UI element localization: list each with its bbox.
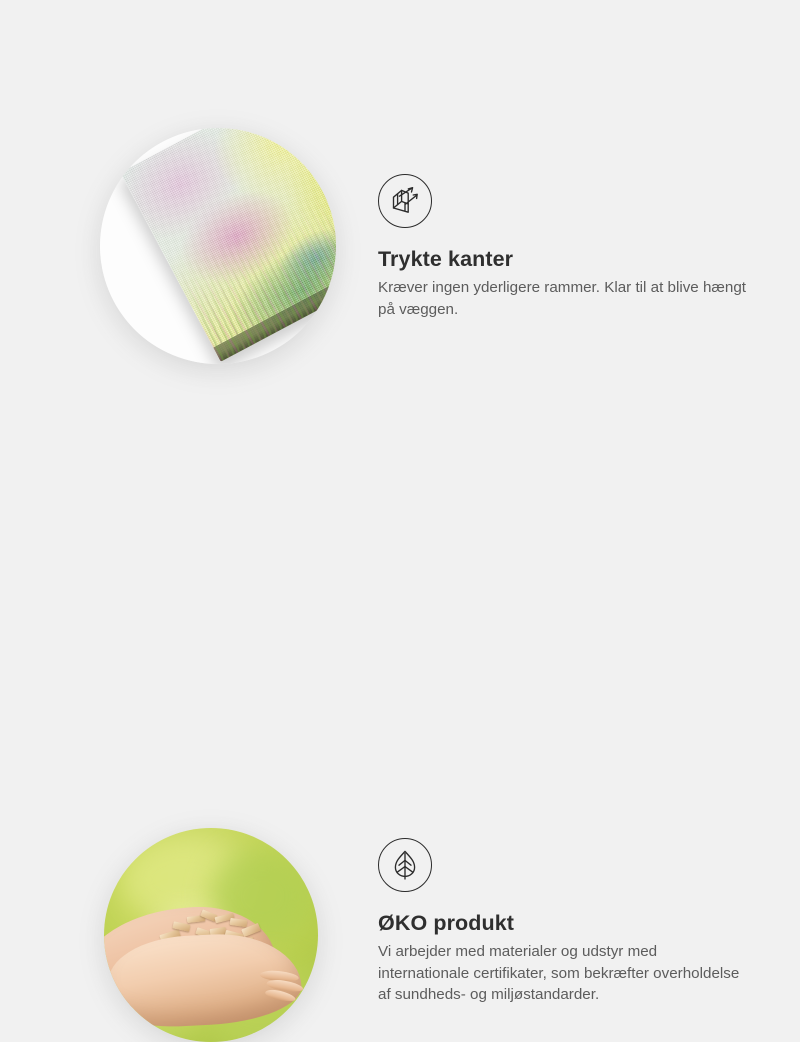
hands-holding-wood-chips-photo	[104, 828, 318, 1042]
feature-text-eco-product: ØKO produkt Vi arbejder med materialer o…	[378, 838, 768, 1006]
feature-text-printed-edges: Trykte kanter Kræver ingen yderligere ra…	[378, 174, 768, 320]
feature-title: Trykte kanter	[378, 246, 768, 274]
canvas-print-corner-photo	[100, 128, 336, 364]
canvas-print-artwork	[120, 128, 336, 362]
feature-title: ØKO produkt	[378, 910, 768, 938]
canvas-wrapped-edge	[213, 247, 336, 362]
wood-chip	[229, 918, 247, 927]
feature-panel-eco-product: ØKO produkt Vi arbejder med materialer o…	[0, 400, 800, 800]
leaf-icon	[378, 838, 432, 892]
feature-description: Vi arbejder med materialer og udstyr med…	[378, 941, 750, 1006]
printed-edges-icon	[378, 174, 432, 228]
feature-description: Kræver ingen yderligere rammer. Klar til…	[378, 277, 750, 320]
feature-panel-printed-edges: Trykte kanter Kræver ingen yderligere ra…	[0, 0, 800, 400]
